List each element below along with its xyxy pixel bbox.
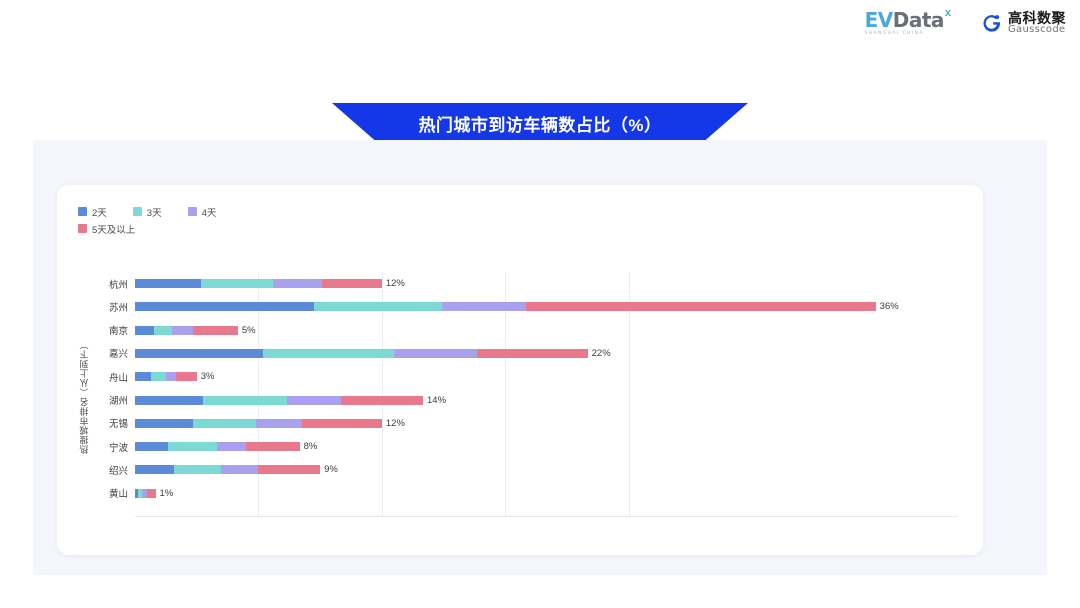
plot-area: 杭州12%苏州36%南京5%嘉兴22%舟山3%湖州14%无锡12%宁波8%绍兴9…	[135, 272, 958, 517]
legend-label: 4天	[202, 205, 217, 219]
y-axis-tick-label: 嘉兴	[109, 346, 128, 360]
logo-group: EV Data x SHANGHAI CHINA 高科数聚 Gausscode	[865, 10, 1066, 37]
chart-container: 热搜城市排名（从上到下） 杭州12%苏州36%南京5%嘉兴22%舟山3%湖州14…	[78, 272, 958, 517]
bar-segment-2[interactable]	[221, 465, 258, 474]
y-axis-tick-label: 宁波	[109, 440, 128, 454]
legend-label: 2天	[92, 205, 107, 219]
bar-segment-1[interactable]	[314, 302, 442, 311]
bar-segment-1[interactable]	[193, 419, 257, 428]
bar-value-label: 8%	[304, 441, 318, 452]
bar-segment-3[interactable]	[147, 489, 155, 498]
bar-segment-0[interactable]	[135, 419, 193, 428]
bar-row[interactable]: 黄山1%	[135, 482, 958, 505]
bar-segment-0[interactable]	[135, 302, 314, 311]
legend-item-1[interactable]: 3天	[133, 205, 162, 218]
bar-segment-1[interactable]	[263, 349, 395, 358]
gausscode-logo: 高科数聚 Gausscode	[980, 11, 1066, 36]
page-header: EV Data x SHANGHAI CHINA 高科数聚 Gausscode	[0, 0, 1080, 56]
bar-segment-1[interactable]	[203, 396, 287, 405]
bar-row[interactable]: 绍兴9%	[135, 458, 958, 481]
bar-segment-2[interactable]	[287, 396, 340, 405]
chart-legend: 2天3天4天5天及以上	[78, 205, 378, 239]
bar-value-label: 1%	[160, 488, 174, 499]
bar-segment-2[interactable]	[273, 279, 322, 288]
bar-row[interactable]: 湖州14%	[135, 389, 958, 412]
evdata-logo-data-text: Data	[893, 10, 944, 30]
bar-value-label: 14%	[427, 395, 446, 406]
page-title: 热门城市到访车辆数占比（%）	[418, 111, 661, 136]
bar-value-label: 12%	[386, 418, 405, 429]
gausscode-logo-text: 高科数聚 Gausscode	[1008, 11, 1066, 36]
bar-segment-3[interactable]	[176, 372, 197, 381]
bar-segment-2[interactable]	[217, 442, 246, 451]
bar-segment-1[interactable]	[154, 326, 173, 335]
y-axis-title: 热搜城市排名（从上到下）	[77, 342, 91, 452]
bar-segment-3[interactable]	[477, 349, 588, 358]
stacked-bar[interactable]	[135, 489, 156, 498]
y-axis-tick-label: 南京	[109, 323, 128, 337]
bar-segment-3[interactable]	[526, 302, 876, 311]
legend-swatch-icon	[78, 207, 87, 216]
bar-rows: 杭州12%苏州36%南京5%嘉兴22%舟山3%湖州14%无锡12%宁波8%绍兴9…	[135, 272, 958, 517]
legend-item-0[interactable]: 2天	[78, 205, 107, 218]
legend-label: 5天及以上	[92, 222, 135, 236]
logo-divider	[965, 10, 966, 36]
bar-value-label: 9%	[324, 464, 338, 475]
legend-swatch-icon	[78, 224, 87, 233]
y-axis-tick-label: 杭州	[109, 277, 128, 291]
evdata-logo-ev-text: EV	[865, 10, 893, 30]
legend-swatch-icon	[188, 207, 197, 216]
legend-label: 3天	[147, 205, 162, 219]
y-axis-tick-label: 苏州	[109, 300, 128, 314]
bar-value-label: 5%	[242, 325, 256, 336]
bar-segment-0[interactable]	[135, 349, 263, 358]
bar-segment-3[interactable]	[341, 396, 423, 405]
evdata-logo: EV Data x SHANGHAI CHINA	[865, 10, 951, 37]
y-axis-tick-label: 绍兴	[109, 463, 128, 477]
bar-segment-3[interactable]	[258, 465, 320, 474]
bar-segment-3[interactable]	[193, 326, 238, 335]
bar-segment-3[interactable]	[322, 279, 382, 288]
legend-item-3[interactable]: 5天及以上	[78, 222, 135, 235]
bar-segment-2[interactable]	[442, 302, 526, 311]
bar-value-label: 22%	[592, 348, 611, 359]
bar-row[interactable]: 杭州12%	[135, 272, 958, 295]
stacked-bar[interactable]	[135, 396, 423, 405]
evdata-logo-superscript-icon: x	[945, 8, 951, 19]
y-axis-tick-label: 黄山	[109, 486, 128, 500]
gausscode-mark-icon	[980, 12, 1002, 34]
stacked-bar[interactable]	[135, 372, 197, 381]
title-banner: 热门城市到访车辆数占比（%）	[332, 103, 748, 143]
title-banner-wrapper: 热门城市到访车辆数占比（%）	[0, 103, 1080, 143]
stacked-bar[interactable]	[135, 326, 238, 335]
bar-value-label: 12%	[386, 278, 405, 289]
stacked-bar[interactable]	[135, 302, 876, 311]
bar-segment-2[interactable]	[394, 349, 476, 358]
bar-segment-0[interactable]	[135, 326, 154, 335]
gausscode-logo-cn: 高科数聚	[1008, 11, 1066, 26]
x-axis-line	[135, 516, 958, 517]
bar-value-label: 36%	[880, 301, 899, 312]
bar-row[interactable]: 宁波8%	[135, 435, 958, 458]
bar-segment-0[interactable]	[135, 442, 168, 451]
bar-segment-2[interactable]	[166, 372, 176, 381]
stacked-bar[interactable]	[135, 349, 588, 358]
bar-row[interactable]: 无锡12%	[135, 412, 958, 435]
bar-row[interactable]: 苏州36%	[135, 295, 958, 318]
stacked-bar[interactable]	[135, 419, 382, 428]
bar-segment-3[interactable]	[302, 419, 382, 428]
legend-item-2[interactable]: 4天	[188, 205, 217, 218]
bar-segment-3[interactable]	[246, 442, 299, 451]
bar-segment-0[interactable]	[135, 279, 201, 288]
legend-swatch-icon	[133, 207, 142, 216]
stacked-bar[interactable]	[135, 279, 382, 288]
bar-segment-2[interactable]	[172, 326, 193, 335]
gausscode-logo-en: Gausscode	[1008, 25, 1066, 36]
stacked-bar[interactable]	[135, 465, 320, 474]
y-axis-tick-label: 舟山	[109, 370, 128, 384]
bar-value-label: 3%	[201, 371, 215, 382]
bar-segment-0[interactable]	[135, 372, 151, 381]
bar-row[interactable]: 嘉兴22%	[135, 342, 958, 365]
evdata-logo-wordmark: EV Data x	[865, 10, 951, 30]
bar-segment-0[interactable]	[135, 396, 203, 405]
bar-row[interactable]: 南京5%	[135, 319, 958, 342]
bar-segment-0[interactable]	[135, 465, 174, 474]
stacked-bar[interactable]	[135, 442, 300, 451]
bar-segment-1[interactable]	[174, 465, 221, 474]
bar-segment-1[interactable]	[151, 372, 165, 381]
bar-segment-2[interactable]	[256, 419, 301, 428]
y-axis-tick-label: 无锡	[109, 416, 128, 430]
y-axis-tick-label: 湖州	[109, 393, 128, 407]
bar-segment-1[interactable]	[201, 279, 273, 288]
bar-row[interactable]: 舟山3%	[135, 365, 958, 388]
bar-segment-1[interactable]	[168, 442, 217, 451]
evdata-logo-subtitle: SHANGHAI CHINA	[865, 32, 924, 37]
